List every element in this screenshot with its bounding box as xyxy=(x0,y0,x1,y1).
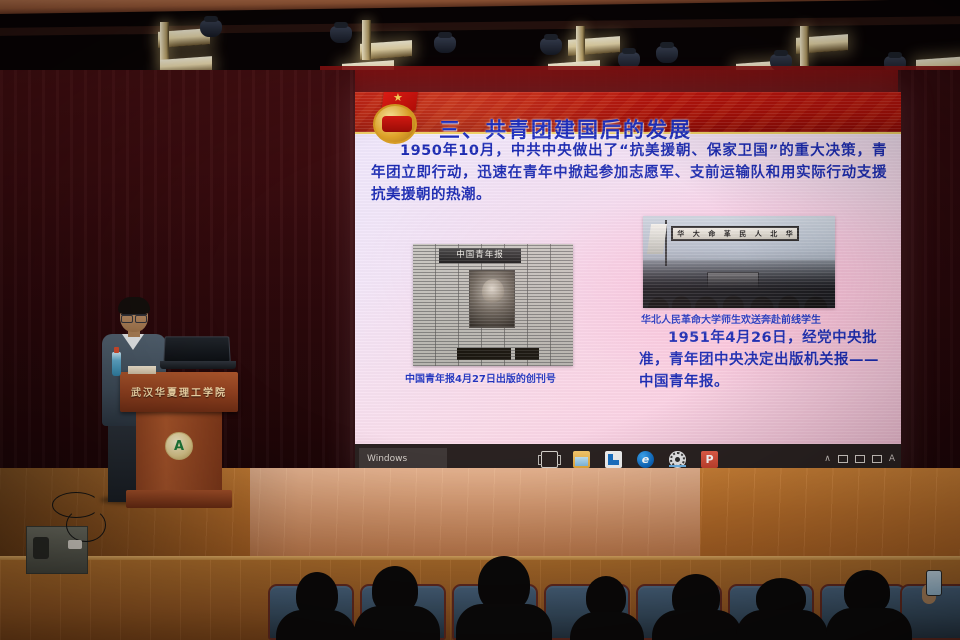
settings-icon[interactable] xyxy=(669,451,686,468)
taskbar-icon-group: e P xyxy=(541,451,718,468)
stage-curtain-right xyxy=(898,70,960,490)
newspaper-black-block xyxy=(457,348,511,360)
edge-browser-icon[interactable]: e xyxy=(637,451,654,468)
newspaper-portrait xyxy=(469,270,515,328)
action-center-icon[interactable] xyxy=(872,455,882,463)
newspaper-photo-caption: 中国青年报4月27日出版的创刊号 xyxy=(405,370,556,385)
stage-light-panel xyxy=(362,20,371,60)
stage-light-panel xyxy=(160,22,169,62)
spotlight-fixture xyxy=(330,26,352,43)
file-explorer-icon[interactable] xyxy=(573,451,590,468)
audience-member-body xyxy=(456,604,552,640)
banner-char: 华 xyxy=(677,229,684,239)
laptop-keyboard xyxy=(160,361,236,369)
spotlight-fixture xyxy=(434,36,456,53)
slide-closing-text: 1951年4月26日，经党中央批准，青年团中央决定出版机关报——中国青年报。 xyxy=(639,328,889,393)
newspaper-photo: 中国青年报 xyxy=(413,244,573,366)
stage-light-panel xyxy=(800,26,809,66)
lectern-base xyxy=(126,490,232,508)
banner-char: 民 xyxy=(739,229,746,239)
floor-light-spill xyxy=(250,468,700,560)
banner-char: 华 xyxy=(786,229,793,239)
banner-char: 北 xyxy=(770,229,777,239)
running-indicator xyxy=(669,465,686,467)
rally-photo-caption: 华北人民革命大学师生欢送奔赴前线学生 xyxy=(641,311,821,326)
stage-light-panel xyxy=(576,26,585,66)
university-crest: A xyxy=(165,432,193,460)
ceiling-beam xyxy=(0,0,960,14)
powerpoint-icon[interactable]: P xyxy=(701,451,718,468)
task-view-icon[interactable] xyxy=(541,451,558,468)
network-icon[interactable] xyxy=(838,455,848,463)
language-indicator[interactable]: A xyxy=(889,454,895,464)
chevron-up-icon[interactable]: ∧ xyxy=(824,454,831,464)
crest-letter: A xyxy=(174,440,184,453)
audience-member-body xyxy=(736,610,828,640)
projection-screen: ★ 三、共青团建国后的发展 1950年10月，中共中央做出了“抗美援朝、保家卫国… xyxy=(355,92,901,474)
presentation-slide: ★ 三、共青团建国后的发展 1950年10月，中共中央做出了“抗美援朝、保家卫国… xyxy=(355,92,901,444)
lectern: 武汉华夏理工学院 A xyxy=(120,372,238,517)
banner-char: 革 xyxy=(724,229,731,239)
smartphone-screen[interactable] xyxy=(926,570,942,596)
glasses-icon xyxy=(121,314,147,320)
banner-char: 命 xyxy=(708,229,715,239)
newspaper-masthead: 中国青年报 xyxy=(439,248,521,263)
rally-banner: 华 大 命 革 民 人 北 华 xyxy=(671,226,799,241)
venue-name-label: 武汉华夏理工学院 xyxy=(120,384,238,399)
audience-member-body xyxy=(276,610,356,640)
spotlight-fixture xyxy=(656,46,678,63)
communist-youth-league-emblem: ★ xyxy=(369,92,425,146)
audience-member-body xyxy=(652,610,742,640)
banner-char: 大 xyxy=(693,229,700,239)
banner-char: 人 xyxy=(755,229,762,239)
newspaper-black-block xyxy=(515,348,539,360)
spotlight-fixture xyxy=(200,20,222,37)
presenter-hair xyxy=(118,297,150,314)
search-input[interactable]: Windows xyxy=(359,448,447,470)
system-tray: ∧ A xyxy=(824,454,895,464)
audience-member-body xyxy=(354,606,440,640)
spotlight-fixture xyxy=(540,38,562,55)
audience-member-body xyxy=(826,608,912,640)
floor-cable xyxy=(66,508,106,542)
auditorium-scene: ★ 三、共青团建国后的发展 1950年10月，中共中央做出了“抗美援朝、保家卫国… xyxy=(0,0,960,640)
audience-member-body xyxy=(570,612,644,640)
presenter-laptop xyxy=(160,336,236,370)
gold-medal-icon xyxy=(373,104,417,144)
laptop-screen xyxy=(163,336,231,362)
star-icon: ★ xyxy=(393,92,403,103)
microsoft-store-icon[interactable] xyxy=(605,451,622,468)
lighting-truss xyxy=(0,16,960,36)
paper-stack xyxy=(128,366,156,374)
rally-photo: 华 大 命 革 民 人 北 华 xyxy=(643,216,835,308)
audience-rows xyxy=(0,552,960,640)
lectern-front-panel: 武汉华夏理工学院 xyxy=(120,372,238,412)
rally-crowd xyxy=(643,260,835,308)
medal-inner-band xyxy=(382,116,412,132)
volume-icon[interactable] xyxy=(855,455,865,463)
slide-body-text: 1950年10月，中共中央做出了“抗美援朝、保家卫国”的重大决策，青年团立即行动… xyxy=(371,140,887,206)
water-bottle xyxy=(112,352,121,376)
power-plug xyxy=(68,540,82,549)
